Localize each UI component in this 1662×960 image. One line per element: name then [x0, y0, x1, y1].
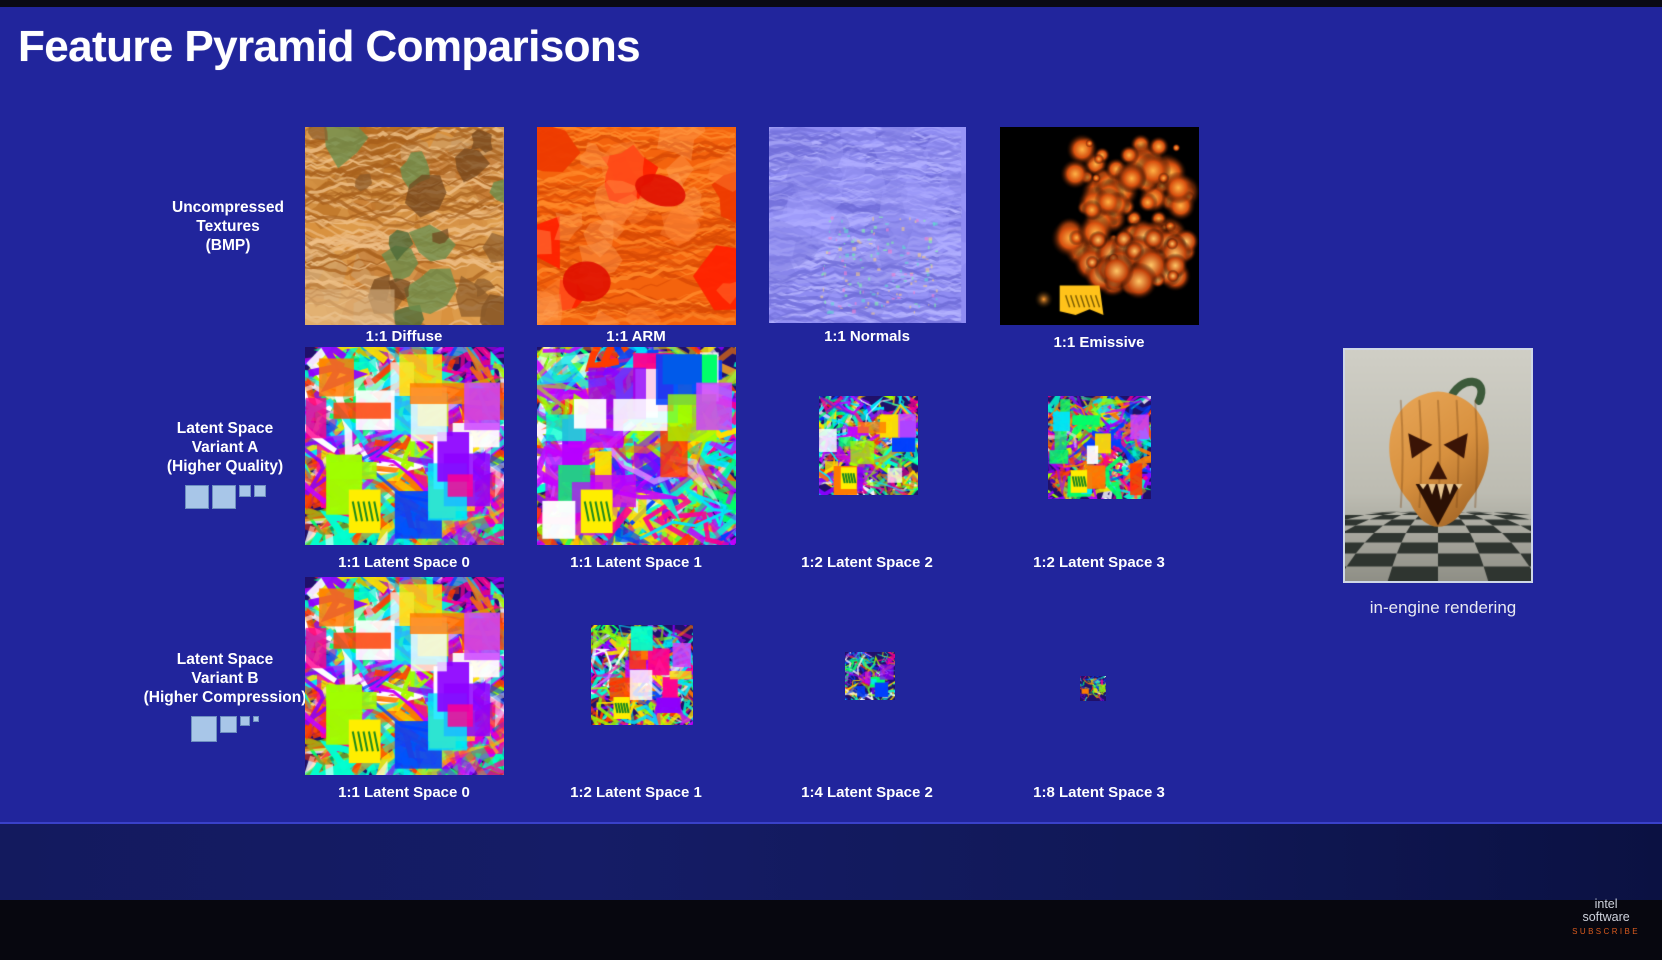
- caption-1-1-emissive: 1:1 Emissive: [1054, 334, 1145, 351]
- watermark-line-3: SUBSCRIBE: [1572, 925, 1640, 938]
- texture-tile-latent-b-2[interactable]: [845, 652, 895, 700]
- pyramid-level-2: [240, 716, 250, 726]
- texture-tile-normals[interactable]: [769, 127, 966, 323]
- pyramid-level-0: [185, 485, 209, 509]
- pyramid-level-0: [191, 716, 217, 742]
- caption-1-1-arm: 1:1 ARM: [606, 328, 665, 345]
- caption-latent-a-1: 1:1 Latent Space 1: [570, 554, 702, 571]
- caption-1-1-diffuse: 1:1 Diffuse: [366, 328, 443, 345]
- bottom-black-strip: [0, 900, 1662, 960]
- texture-tile-latent-b-3[interactable]: [1080, 676, 1106, 701]
- pyramid-level-1: [220, 716, 237, 733]
- texture-tile-latent-a-1[interactable]: [537, 347, 736, 545]
- pyramid-level-3: [253, 716, 259, 722]
- texture-tile-latent-b-1[interactable]: [591, 625, 693, 725]
- render-caption: in-engine rendering: [1370, 598, 1517, 618]
- caption-latent-b-0: 1:1 Latent Space 0: [338, 784, 470, 801]
- caption-latent-a-0: 1:1 Latent Space 0: [338, 554, 470, 571]
- caption-latent-a-2: 1:2 Latent Space 2: [801, 554, 933, 571]
- page-title: Feature Pyramid Comparisons: [18, 22, 640, 72]
- intel-software-watermark: intel software SUBSCRIBE: [1572, 898, 1640, 938]
- footer-bar: intel 11 Pumpkin model CC-BY-4.0 Authore…: [0, 824, 1662, 900]
- caption-latent-b-1: 1:2 Latent Space 1: [570, 784, 702, 801]
- caption-latent-b-3: 1:8 Latent Space 3: [1033, 784, 1165, 801]
- slide-root: Feature Pyramid Comparisons Uncompressed…: [0, 0, 1662, 960]
- in-engine-render-image[interactable]: [1343, 348, 1533, 583]
- pyramid-level-1: [212, 485, 236, 509]
- caption-latent-b-2: 1:4 Latent Space 2: [801, 784, 933, 801]
- caption-latent-a-3: 1:2 Latent Space 3: [1033, 554, 1165, 571]
- pyramid-level-3: [254, 485, 266, 497]
- texture-tile-latent-a-3[interactable]: [1048, 396, 1151, 499]
- texture-tile-latent-a-0[interactable]: [305, 347, 504, 545]
- texture-tile-latent-b-0[interactable]: [305, 577, 504, 775]
- texture-tile-latent-a-2[interactable]: [819, 396, 918, 495]
- watermark-line-2: software: [1572, 911, 1640, 924]
- texture-tile-emissive[interactable]: [1000, 127, 1199, 325]
- pyramid-level-2: [239, 485, 251, 497]
- texture-tile-diffuse[interactable]: [305, 127, 504, 325]
- caption-1-1-normals: 1:1 Normals: [824, 328, 910, 345]
- texture-tile-arm[interactable]: [537, 127, 736, 325]
- top-black-strip: [0, 0, 1662, 7]
